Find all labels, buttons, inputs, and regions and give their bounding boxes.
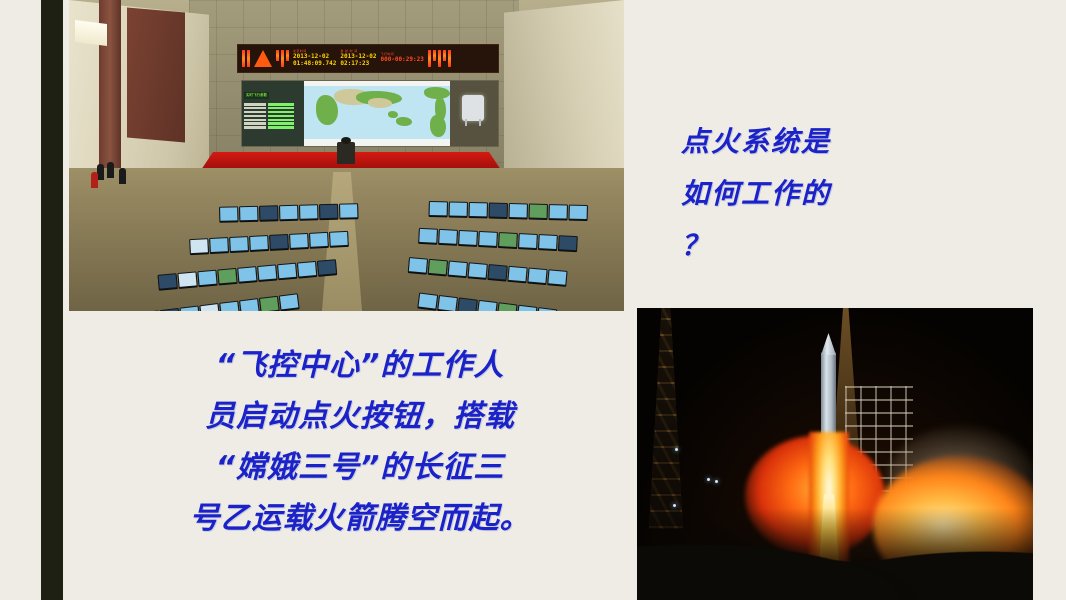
control-room-podium xyxy=(337,142,355,164)
screen-panel-title: 实时飞行参数 xyxy=(244,92,269,99)
led-bar-group-left xyxy=(242,50,250,67)
foreground-trees xyxy=(637,508,1033,600)
led-triangle-icon xyxy=(254,50,272,67)
tower-light-1 xyxy=(675,448,678,451)
led-bar-group-right xyxy=(428,50,451,67)
led-bar-group-2 xyxy=(276,50,289,67)
main-projection-screen: 实时飞行参数 xyxy=(241,80,499,147)
led-status-board: 北京时间 2013-12-02 01:48:09.742 发 射 时 间 201… xyxy=(237,44,499,73)
tower-light-3 xyxy=(715,480,718,483)
lunar-probe-image xyxy=(462,95,484,121)
question-text-block: 点火系统是 如何工作的 ？ xyxy=(681,116,981,272)
slide-canvas: 北京时间 2013-12-02 01:48:09.742 发 射 时 间 201… xyxy=(0,0,1066,600)
screen-probe-view xyxy=(450,81,498,146)
control-room-staff-group xyxy=(89,160,149,200)
led-field-flight-time: 飞行时间 000-00:29:23 xyxy=(380,53,423,64)
led-field-beijing-time: 北京时间 2013-12-02 01:48:09.742 xyxy=(293,50,336,68)
rocket-body xyxy=(821,352,836,442)
screen-world-map xyxy=(304,81,450,146)
caption-text-block: “飞控中心”的工作人 员启动点火按钮，搭载 “嫦娥三号”的长征三 号乙运载火箭腾… xyxy=(150,340,570,544)
control-room-window xyxy=(75,20,107,46)
screen-data-rows xyxy=(244,103,302,129)
left-accent-bar xyxy=(41,0,63,600)
screen-data-panel: 实时飞行参数 xyxy=(242,81,304,146)
photo-mission-control-room: 北京时间 2013-12-02 01:48:09.742 发 射 时 间 201… xyxy=(69,0,624,311)
control-room-door xyxy=(127,7,185,142)
led-time-1: 01:48:09.742 xyxy=(293,61,336,68)
led-time-3: 000-00:29:23 xyxy=(380,57,423,64)
led-time-2: 02:17:23 xyxy=(340,61,376,68)
photo-rocket-launch xyxy=(637,308,1033,600)
tower-light-2 xyxy=(707,478,710,481)
tower-light-4 xyxy=(673,504,676,507)
led-field-launch-time: 发 射 时 间 2013-12-02 02:17:23 xyxy=(340,50,376,68)
